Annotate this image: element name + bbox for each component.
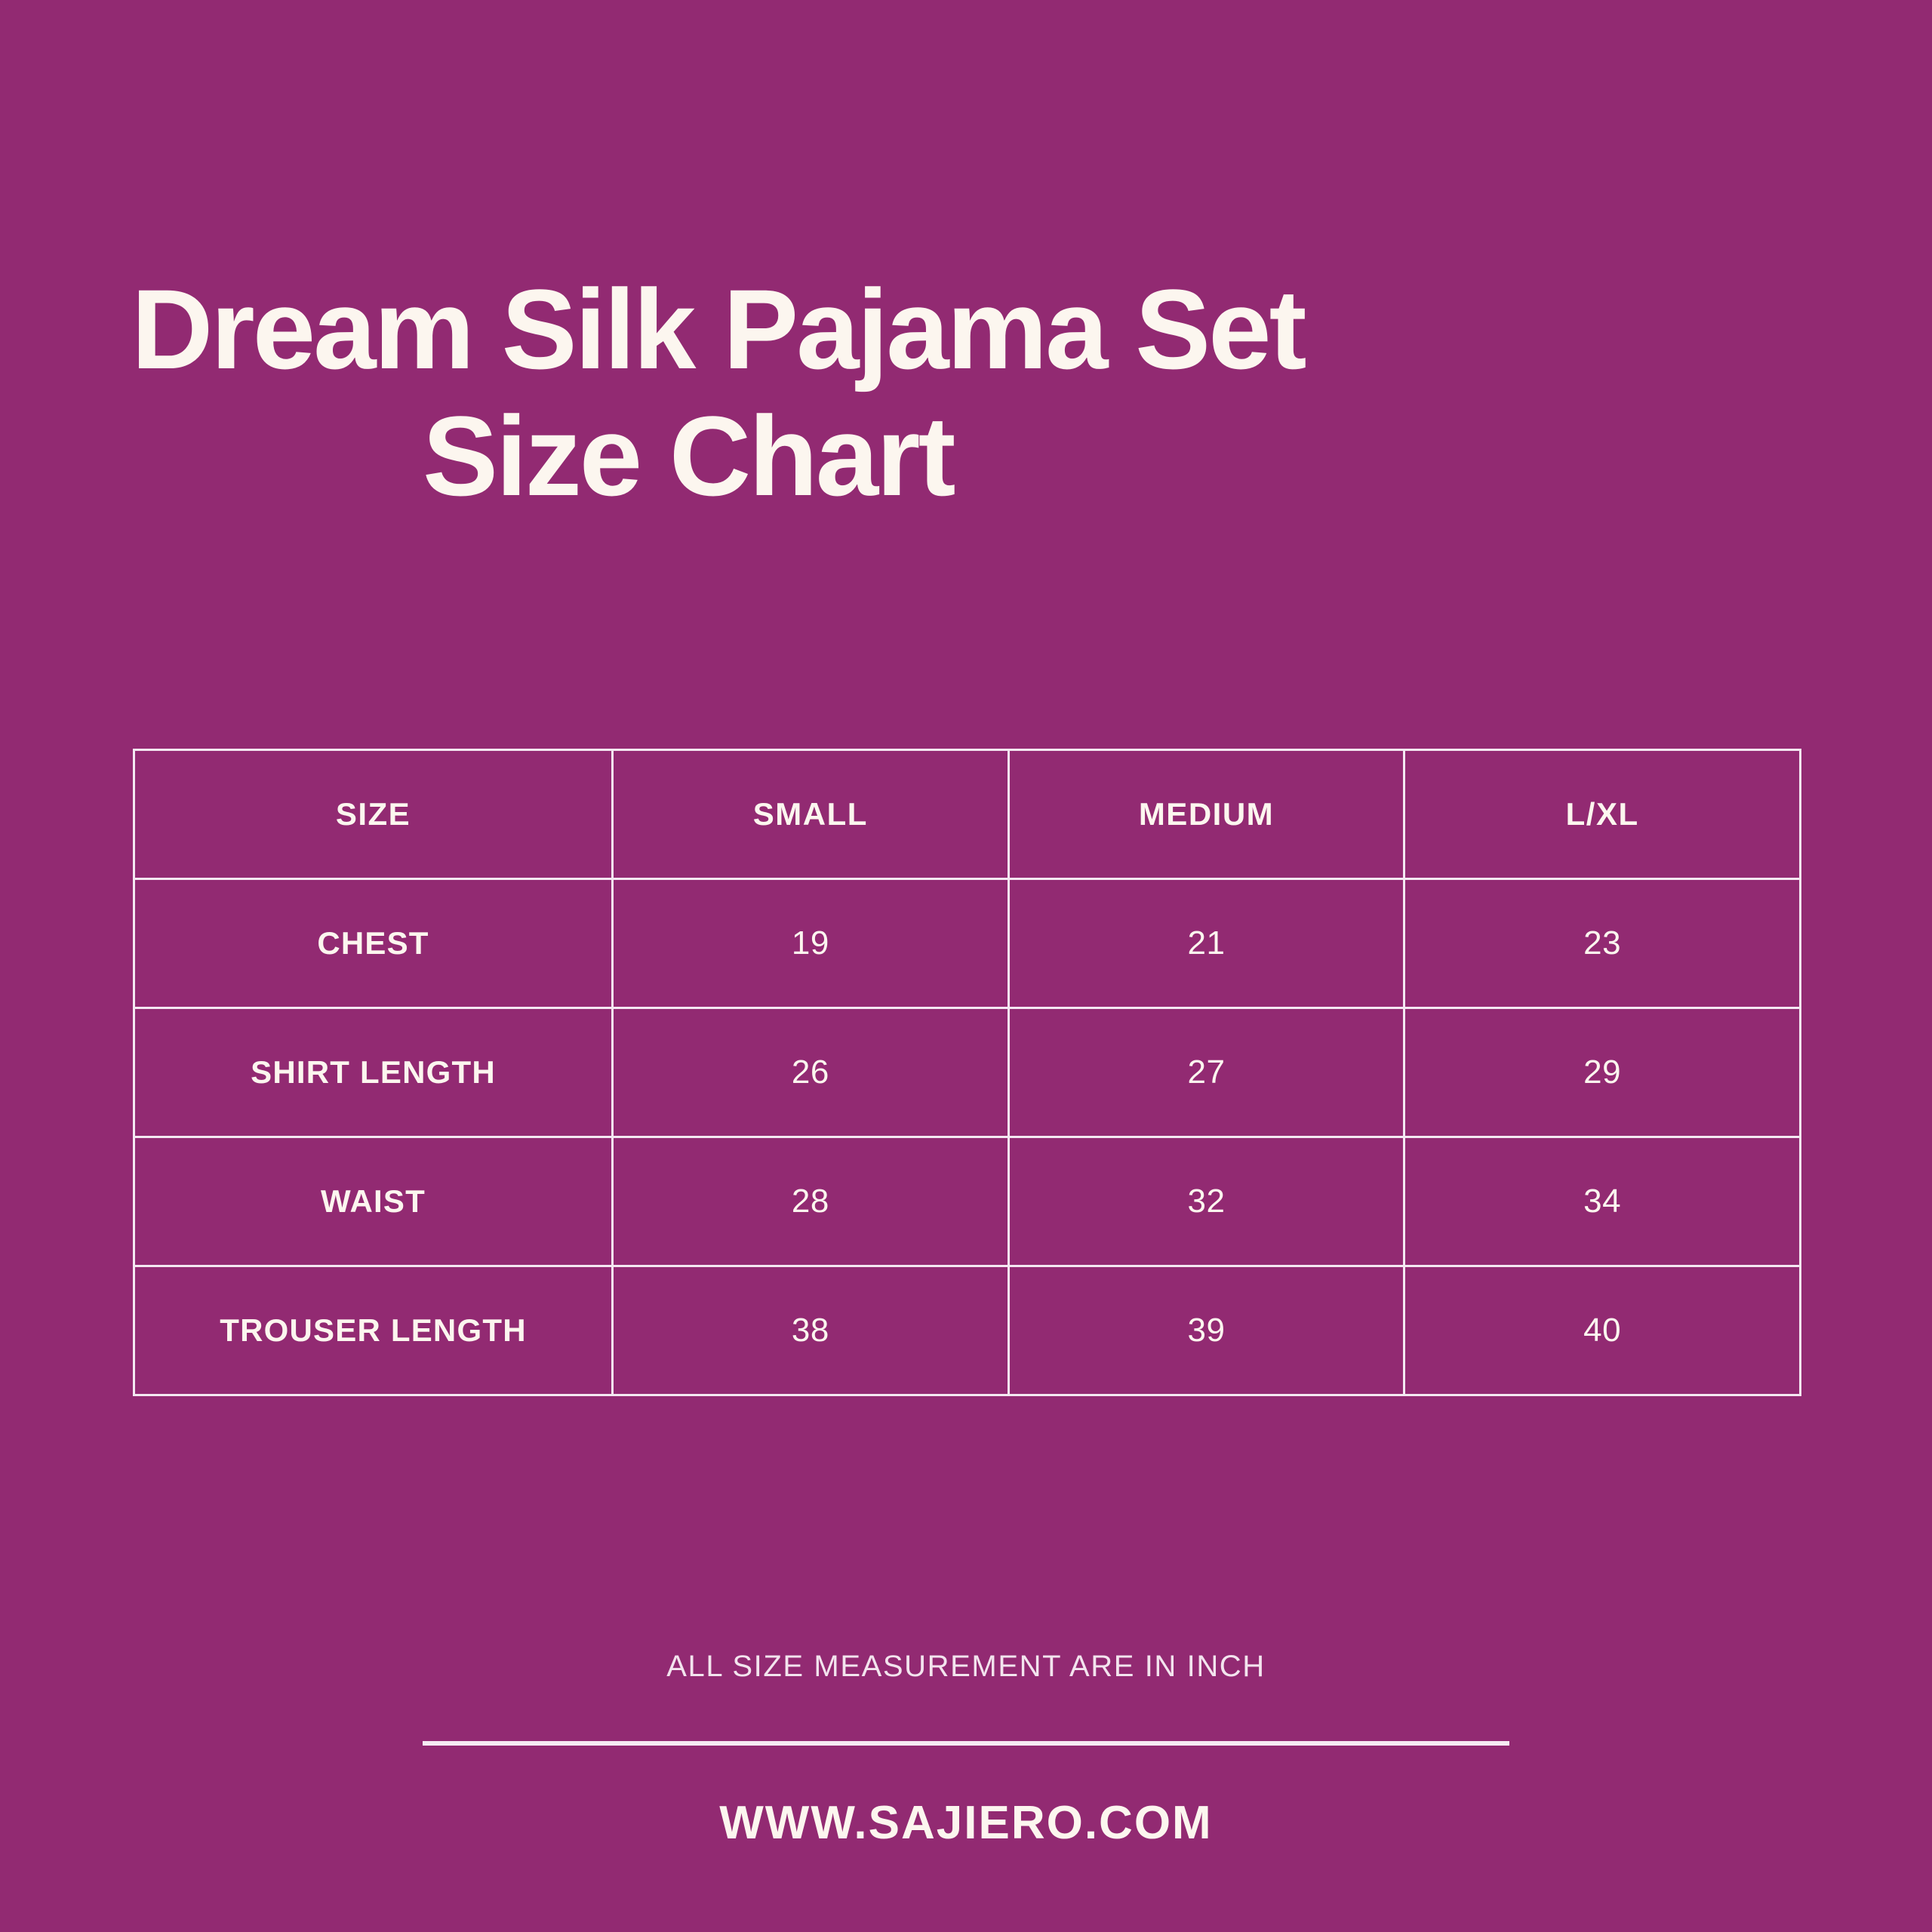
cell-trouser-length-medium: 39 [1008, 1266, 1404, 1395]
footer-divider [423, 1741, 1509, 1746]
cell-chest-medium: 21 [1008, 879, 1404, 1008]
cell-chest-lxl: 23 [1404, 879, 1801, 1008]
page-title: Dream Silk Pajama Set Size Chart [0, 266, 1932, 519]
table-header-row: SIZE SMALL MEDIUM L/XL [134, 750, 1801, 879]
cell-trouser-length-small: 38 [613, 1266, 1009, 1395]
website-url: WWW.SAJIERO.COM [0, 1796, 1932, 1850]
column-header-size: SIZE [134, 750, 613, 879]
measurement-note: ALL SIZE MEASUREMENT ARE IN INCH [0, 1650, 1932, 1684]
title-line-2: Size Chart [128, 392, 1804, 519]
size-table: SIZE SMALL MEDIUM L/XL CHEST 19 21 23 SH… [133, 749, 1801, 1396]
row-label-shirt-length: SHIRT LENGTH [134, 1008, 613, 1137]
cell-chest-small: 19 [613, 879, 1009, 1008]
cell-trouser-length-lxl: 40 [1404, 1266, 1801, 1395]
cell-waist-medium: 32 [1008, 1137, 1404, 1266]
title-line-1: Dream Silk Pajama Set [128, 266, 1804, 392]
table-row: TROUSER LENGTH 38 39 40 [134, 1266, 1801, 1395]
table-row: WAIST 28 32 34 [134, 1137, 1801, 1266]
cell-shirt-length-lxl: 29 [1404, 1008, 1801, 1137]
row-label-chest: CHEST [134, 879, 613, 1008]
column-header-medium: MEDIUM [1008, 750, 1404, 879]
size-chart-poster: Dream Silk Pajama Set Size Chart SIZE SM… [0, 0, 1932, 1932]
cell-waist-small: 28 [613, 1137, 1009, 1266]
cell-shirt-length-medium: 27 [1008, 1008, 1404, 1137]
size-table-container: SIZE SMALL MEDIUM L/XL CHEST 19 21 23 SH… [133, 749, 1799, 1396]
column-header-lxl: L/XL [1404, 750, 1801, 879]
row-label-trouser-length: TROUSER LENGTH [134, 1266, 613, 1395]
cell-shirt-length-small: 26 [613, 1008, 1009, 1137]
cell-waist-lxl: 34 [1404, 1137, 1801, 1266]
table-row: SHIRT LENGTH 26 27 29 [134, 1008, 1801, 1137]
table-row: CHEST 19 21 23 [134, 879, 1801, 1008]
column-header-small: SMALL [613, 750, 1009, 879]
row-label-waist: WAIST [134, 1137, 613, 1266]
